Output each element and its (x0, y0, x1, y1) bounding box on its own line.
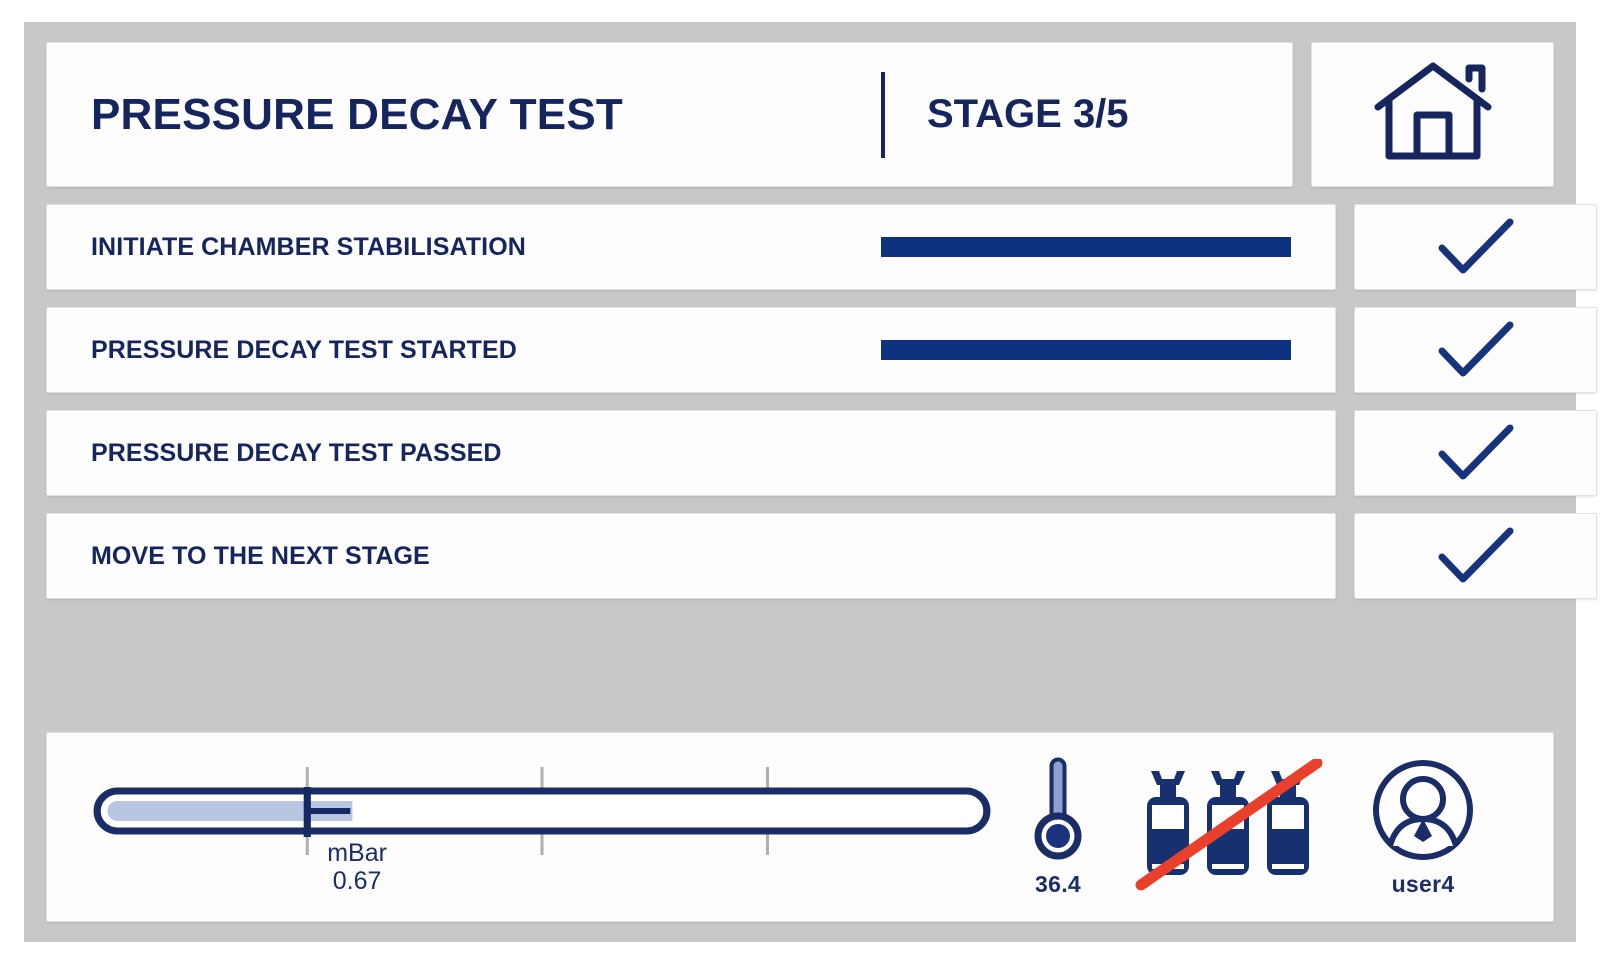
home-icon (1372, 60, 1494, 169)
stage-indicator: STAGE 3/5 (927, 92, 1129, 137)
home-button[interactable] (1311, 42, 1554, 187)
gas-cylinders-disabled-icon (1133, 759, 1323, 896)
step-status-1 (1354, 307, 1597, 393)
header: PRESSURE DECAY TEST STAGE 3/5 (46, 42, 1554, 187)
panel-spacer (46, 616, 1554, 732)
step-label: MOVE TO THE NEXT STAGE (91, 542, 881, 571)
step-label: PRESSURE DECAY TEST STARTED (91, 336, 881, 365)
gauge-unit: mBar (327, 839, 387, 867)
user-avatar-icon (1369, 756, 1477, 869)
step-cell-1[interactable]: PRESSURE DECAY TEST STARTED (46, 307, 1336, 393)
step-label: PRESSURE DECAY TEST PASSED (91, 439, 881, 468)
step-cell-0[interactable]: INITIATE CHAMBER STABILISATION (46, 204, 1336, 290)
temperature-value: 36.4 (1035, 871, 1081, 898)
progress-bar-0 (881, 237, 1291, 257)
page-title: PRESSURE DECAY TEST (91, 90, 881, 140)
step-label: INITIATE CHAMBER STABILISATION (91, 233, 881, 262)
user-name: user4 (1392, 871, 1455, 898)
check-icon (1436, 422, 1516, 484)
table-row: MOVE TO THE NEXT STAGE (46, 513, 1554, 599)
check-icon (1436, 525, 1516, 587)
progress-fill (881, 340, 1291, 360)
gauge-value: 0.67 (327, 867, 387, 895)
check-icon (1436, 319, 1516, 381)
progress-bar-2 (881, 443, 1291, 463)
step-status-3 (1354, 513, 1597, 599)
temperature-indicator: 36.4 (993, 747, 1123, 907)
table-row: PRESSURE DECAY TEST STARTED (46, 307, 1554, 393)
check-icon (1436, 216, 1516, 278)
table-row: INITIATE CHAMBER STABILISATION (46, 204, 1554, 290)
step-status-0 (1354, 204, 1597, 290)
gauge-graphic (91, 747, 993, 907)
step-cell-2[interactable]: PRESSURE DECAY TEST PASSED (46, 410, 1336, 496)
gas-supply-indicator (1123, 747, 1333, 907)
main-panel: PRESSURE DECAY TEST STAGE 3/5 (24, 22, 1576, 942)
user-indicator[interactable]: user4 (1333, 747, 1513, 907)
table-row: PRESSURE DECAY TEST PASSED (46, 410, 1554, 496)
progress-fill (881, 237, 1291, 257)
status-bar: mBar 0.67 36.4 (46, 732, 1554, 922)
step-list: INITIATE CHAMBER STABILISATION PRE (46, 204, 1554, 616)
progress-bar-1 (881, 340, 1291, 360)
gauge-readout: mBar 0.67 (327, 839, 387, 895)
step-status-2 (1354, 410, 1597, 496)
progress-bar-3 (881, 546, 1291, 566)
app-screen: PRESSURE DECAY TEST STAGE 3/5 (0, 0, 1600, 968)
thermometer-icon (1028, 756, 1088, 869)
title-divider (881, 72, 885, 158)
header-title-card: PRESSURE DECAY TEST STAGE 3/5 (46, 42, 1293, 187)
step-cell-3[interactable]: MOVE TO THE NEXT STAGE (46, 513, 1336, 599)
pressure-gauge[interactable]: mBar 0.67 (91, 747, 993, 907)
